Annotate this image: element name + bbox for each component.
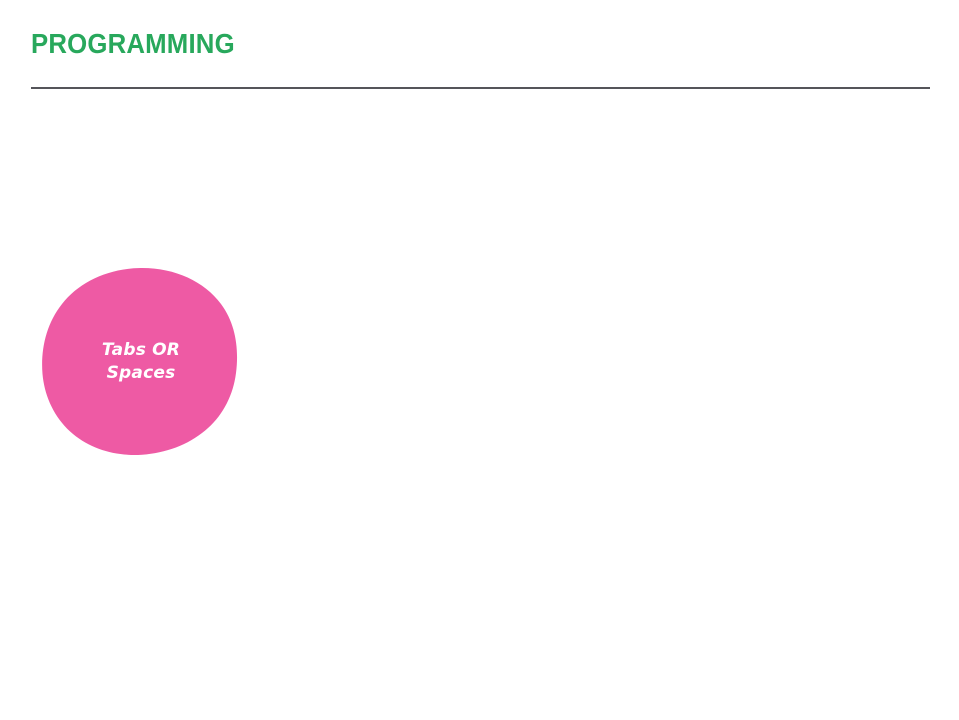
page-title: PROGRAMMING — [31, 27, 235, 61]
presentation-slide: PROGRAMMING Tabs OR Spaces — [0, 0, 959, 720]
title-divider — [31, 87, 930, 89]
tabs-or-spaces-blob[interactable]: Tabs OR Spaces — [41, 267, 238, 456]
pink-circle-shape — [41, 267, 238, 456]
